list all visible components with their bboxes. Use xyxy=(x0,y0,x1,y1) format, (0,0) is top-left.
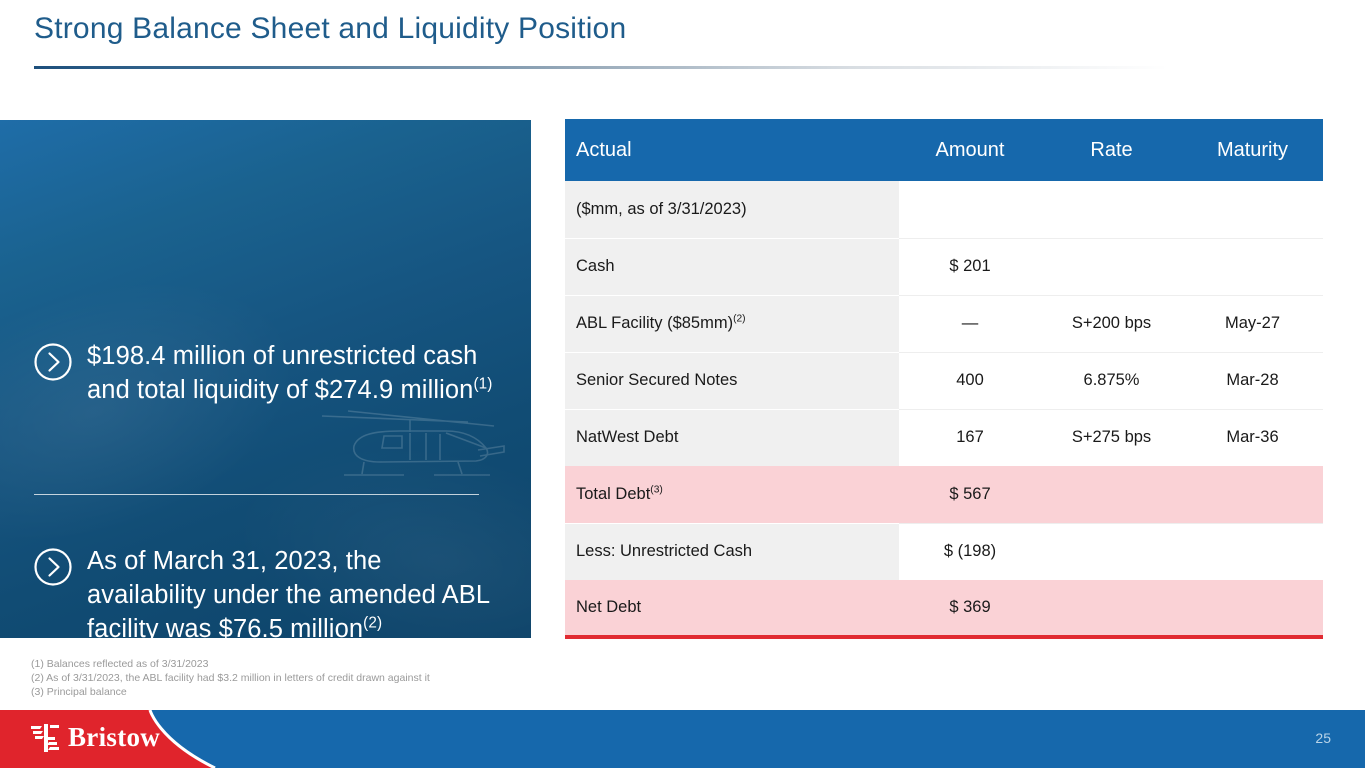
row-amount: 167 xyxy=(899,409,1041,466)
row-amount: $ 369 xyxy=(899,580,1041,637)
row-amount: — xyxy=(899,295,1041,352)
row-label: Net Debt xyxy=(565,580,899,637)
highlight-bullet-1: $198.4 million of unrestricted cash and … xyxy=(33,339,503,407)
footnote-3: (3) Principal balance xyxy=(31,686,430,700)
row-rate xyxy=(1041,238,1182,295)
row-rate xyxy=(1041,466,1182,523)
row-amount xyxy=(899,181,1041,238)
row-label-footnote-ref: (2) xyxy=(733,314,746,325)
highlight-bullet-2-body: As of March 31, 2023, the availability u… xyxy=(87,547,489,638)
row-maturity: May-27 xyxy=(1182,295,1323,352)
page-number: 25 xyxy=(1315,730,1331,746)
highlight-bullet-1-footnote-ref: (1) xyxy=(473,376,492,393)
highlight-bullet-2: As of March 31, 2023, the availability u… xyxy=(33,544,503,638)
row-label: NatWest Debt xyxy=(565,409,899,466)
footnotes-block: (1) Balances reflected as of 3/31/2023 (… xyxy=(31,658,430,699)
table-header-row: Actual Amount Rate Maturity xyxy=(565,119,1323,181)
column-header-rate: Rate xyxy=(1041,119,1182,181)
row-maturity: Mar-36 xyxy=(1182,409,1323,466)
column-header-maturity: Maturity xyxy=(1182,119,1323,181)
table-header: Actual Amount Rate Maturity xyxy=(565,119,1323,181)
row-label: Cash xyxy=(565,238,899,295)
page-title: Strong Balance Sheet and Liquidity Posit… xyxy=(34,12,626,46)
row-rate xyxy=(1041,181,1182,238)
table-row: Senior Secured Notes4006.875%Mar-28 xyxy=(565,352,1323,409)
highlight-bullet-2-footnote-ref: (2) xyxy=(363,615,382,632)
row-maturity xyxy=(1182,466,1323,523)
table-row: Total Debt(3)$ 567 xyxy=(565,466,1323,523)
row-maturity xyxy=(1182,523,1323,580)
row-amount: 400 xyxy=(899,352,1041,409)
highlight-bullet-1-text: $198.4 million of unrestricted cash and … xyxy=(87,339,503,407)
row-label: Senior Secured Notes xyxy=(565,352,899,409)
row-label-text: Total Debt xyxy=(576,485,650,503)
column-header-amount: Amount xyxy=(899,119,1041,181)
table-row: Less: Unrestricted Cash$ (198) xyxy=(565,523,1323,580)
bristow-pinwheel-icon xyxy=(30,723,62,753)
table-row: NatWest Debt167S+275 bpsMar-36 xyxy=(565,409,1323,466)
row-label: Total Debt(3) xyxy=(565,466,899,523)
chevron-circle-right-icon xyxy=(33,547,73,587)
row-rate xyxy=(1041,580,1182,637)
row-amount: $ (198) xyxy=(899,523,1041,580)
table-body: ($mm, as of 3/31/2023)Cash$ 201ABL Facil… xyxy=(565,181,1323,637)
capitalization-table: Actual Amount Rate Maturity ($mm, as of … xyxy=(565,119,1323,639)
table-row: Cash$ 201 xyxy=(565,238,1323,295)
row-label: Less: Unrestricted Cash xyxy=(565,523,899,580)
row-rate: 6.875% xyxy=(1041,352,1182,409)
title-underline-rule xyxy=(34,66,1168,69)
row-label: ABL Facility ($85mm)(2) xyxy=(565,295,899,352)
chevron-circle-right-icon xyxy=(33,342,73,382)
table-row: ($mm, as of 3/31/2023) xyxy=(565,181,1323,238)
highlights-divider xyxy=(34,494,479,495)
table-row: ABL Facility ($85mm)(2)—S+200 bpsMay-27 xyxy=(565,295,1323,352)
row-maturity xyxy=(1182,238,1323,295)
row-maturity xyxy=(1182,580,1323,637)
row-rate xyxy=(1041,523,1182,580)
row-label: ($mm, as of 3/31/2023) xyxy=(565,181,899,238)
row-maturity: Mar-28 xyxy=(1182,352,1323,409)
row-rate: S+200 bps xyxy=(1041,295,1182,352)
footnote-1: (1) Balances reflected as of 3/31/2023 xyxy=(31,658,430,672)
capitalization-table-wrapper: Actual Amount Rate Maturity ($mm, as of … xyxy=(565,119,1323,639)
slide-root: Strong Balance Sheet and Liquidity Posit… xyxy=(0,0,1365,768)
row-amount: $ 567 xyxy=(899,466,1041,523)
highlights-panel: $198.4 million of unrestricted cash and … xyxy=(0,120,531,638)
row-amount: $ 201 xyxy=(899,238,1041,295)
highlight-bullet-1-body: $198.4 million of unrestricted cash and … xyxy=(87,342,477,404)
column-header-actual: Actual xyxy=(565,119,899,181)
highlight-bullet-2-text: As of March 31, 2023, the availability u… xyxy=(87,544,503,638)
row-label-text: ABL Facility ($85mm) xyxy=(576,314,733,332)
footnote-2: (2) As of 3/31/2023, the ABL facility ha… xyxy=(31,672,430,686)
row-rate: S+275 bps xyxy=(1041,409,1182,466)
row-label-footnote-ref: (3) xyxy=(650,485,663,496)
helicopter-watermark-icon xyxy=(318,402,508,488)
table-row: Net Debt$ 369 xyxy=(565,580,1323,637)
row-maturity xyxy=(1182,181,1323,238)
bristow-logo-text: Bristow xyxy=(68,722,160,753)
